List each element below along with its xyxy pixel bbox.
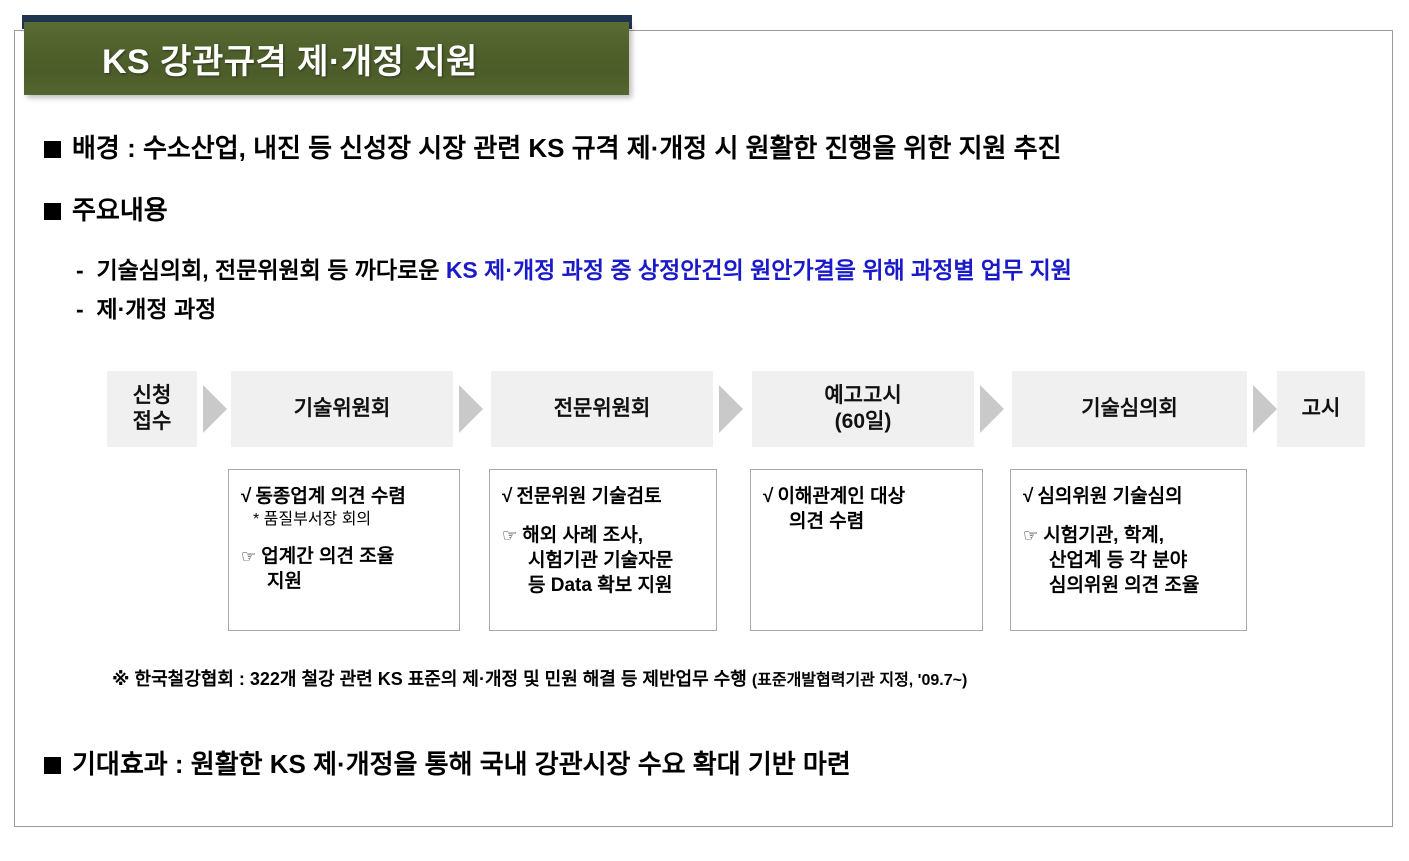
pointing-hand-icon: ☞: [241, 547, 256, 566]
detail-hand-line: ☞해외 사례 조사,: [502, 523, 706, 548]
detail-check-cont: 의견 수렴: [763, 509, 972, 534]
expected-effect-text: 기대효과 : 원활한 KS 제·개정을 통해 국내 강관시장 수요 확대 기반 …: [72, 749, 851, 779]
detail-check-text: 이해관계인 대상: [777, 486, 905, 507]
detail-line-2-text: 제·개정 과정: [96, 296, 216, 322]
flow-step-deliberation[interactable]: 기술심의회: [1012, 371, 1247, 447]
dash-marker: -: [76, 257, 84, 283]
detail-check-line: √이해관계인 대상: [763, 484, 972, 509]
detail-check-line: √심의위원 기술심의: [1023, 484, 1236, 509]
detail-box-deliberation: √심의위원 기술심의 ☞시험기관, 학계, 산업계 등 각 분야 심의위원 의견…: [1010, 469, 1247, 631]
square-bullet-icon: [44, 141, 61, 158]
flow-step-application-line2: 접수: [133, 409, 172, 435]
flow-step-application[interactable]: 신청 접수: [107, 371, 197, 447]
detail-hand-line: ☞시험기관, 학계,: [1023, 523, 1236, 548]
flow-step-tech-committee[interactable]: 기술위원회: [231, 371, 453, 447]
detail-check-text: 동종업계 의견 수렴: [255, 486, 405, 507]
dash-marker: -: [76, 296, 84, 322]
flow-step-notification[interactable]: 고시: [1277, 371, 1365, 447]
detail-box-tech-committee: √동종업계 의견 수렴 * 품질부서장 회의 ☞업계간 의견 조율 지원: [228, 469, 460, 631]
detail-check-line: √전문위원 기술검토: [502, 484, 706, 509]
checkmark-icon: √: [241, 486, 251, 507]
detail-box-expert-committee: √전문위원 기술검토 ☞해외 사례 조사, 시험기관 기술자문 등 Data 확…: [489, 469, 717, 631]
main-content-heading: 주요내용: [72, 195, 168, 225]
right-chevron-arrow-icon: [203, 385, 227, 433]
checkmark-icon: √: [763, 486, 773, 507]
detail-hand-cont2: 심의위원 의견 조율: [1023, 573, 1236, 598]
right-chevron-arrow-icon: [1253, 385, 1277, 433]
detail-box-public-notice: √이해관계인 대상 의견 수렴: [750, 469, 983, 631]
detail-line-1-blue: KS 제·개정 과정 중 상정안건의 원안가결을 위해 과정별 업무 지원: [446, 257, 1072, 283]
flow-step-public-notice-line2: (60일): [824, 409, 901, 435]
detail-hand-text: 업계간 의견 조율: [261, 546, 394, 567]
detail-hand-text: 해외 사례 조사,: [522, 525, 643, 546]
flow-step-application-line1: 신청: [133, 383, 172, 409]
detail-check-text: 전문위원 기술검토: [516, 486, 661, 507]
main-content-section: 주요내용: [44, 196, 168, 225]
footnote: ※ 한국철강협회 : 322개 철강 관련 KS 표준의 제·개정 및 민원 해…: [112, 665, 967, 691]
background-section: 배경 : 수소산업, 내진 등 신성장 시장 관련 KS 규격 제·개정 시 원…: [44, 134, 1062, 163]
detail-hand-cont: 시험기관 기술자문: [502, 548, 706, 573]
detail-line-2: - 제·개정 과정: [76, 297, 216, 322]
checkmark-icon: √: [502, 486, 512, 507]
detail-line-1-black: 기술심의회, 전문위원회 등 까다로운: [96, 257, 439, 283]
page-title: KS 강관규격 제·개정 지원: [24, 34, 478, 83]
detail-hand-cont: 지원: [241, 569, 449, 594]
detail-hand-cont2: 등 Data 확보 지원: [502, 573, 706, 598]
square-bullet-icon: [44, 757, 61, 774]
flow-step-public-notice[interactable]: 예고고시 (60일): [752, 371, 974, 447]
footnote-text: 한국철강협회 : 322개 철강 관련 KS 표준의 제·개정 및 민원 해결 …: [135, 669, 747, 689]
right-chevron-arrow-icon: [980, 385, 1004, 433]
right-chevron-arrow-icon: [719, 385, 743, 433]
flow-step-notification-label: 고시: [1302, 396, 1341, 422]
flow-step-expert-committee[interactable]: 전문위원회: [491, 371, 713, 447]
detail-hand-cont: 산업계 등 각 분야: [1023, 548, 1236, 573]
expected-effect-section: 기대효과 : 원활한 KS 제·개정을 통해 국내 강관시장 수요 확대 기반 …: [44, 750, 851, 779]
pointing-hand-icon: ☞: [1023, 526, 1038, 545]
flow-step-expert-committee-label: 전문위원회: [554, 396, 651, 422]
detail-hand-line: ☞업계간 의견 조율: [241, 544, 449, 569]
detail-check-text: 심의위원 기술심의: [1037, 486, 1182, 507]
detail-sub-text: * 품질부서장 회의: [241, 509, 449, 530]
flow-step-public-notice-line1: 예고고시: [824, 383, 901, 409]
flow-step-deliberation-label: 기술심의회: [1081, 396, 1178, 422]
footnote-tail: (표준개발협력기관 지정, '09.7~): [752, 672, 967, 689]
detail-line-1: - 기술심의회, 전문위원회 등 까다로운 KS 제·개정 과정 중 상정안건의…: [76, 258, 1072, 283]
slide-canvas: KS 강관규격 제·개정 지원 배경 : 수소산업, 내진 등 신성장 시장 관…: [0, 0, 1409, 861]
detail-check-line: √동종업계 의견 수렴: [241, 484, 449, 509]
title-banner: KS 강관규격 제·개정 지원: [24, 22, 629, 95]
square-bullet-icon: [44, 203, 61, 220]
pointing-hand-icon: ☞: [502, 526, 517, 545]
right-chevron-arrow-icon: [459, 385, 483, 433]
background-text: 배경 : 수소산업, 내진 등 신성장 시장 관련 KS 규격 제·개정 시 원…: [72, 133, 1062, 163]
detail-hand-text: 시험기관, 학계,: [1043, 525, 1164, 546]
footnote-marker: ※: [112, 669, 130, 689]
flow-step-tech-committee-label: 기술위원회: [294, 396, 391, 422]
checkmark-icon: √: [1023, 486, 1033, 507]
